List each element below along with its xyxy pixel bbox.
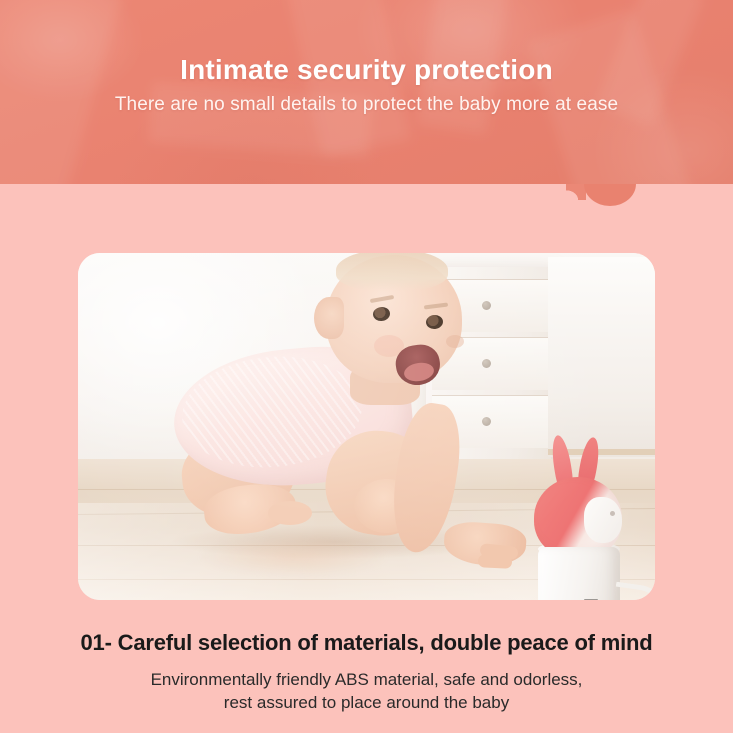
product-feature-page: Intimate security protection There are n… bbox=[0, 0, 733, 733]
banner-bottom-notch bbox=[584, 184, 636, 206]
feature-description-line-1: Environmentally friendly ABS material, s… bbox=[0, 668, 733, 691]
baby-ear bbox=[314, 297, 344, 339]
baby-nose bbox=[446, 335, 464, 348]
banner-title: Intimate security protection bbox=[0, 54, 733, 86]
device-face-panel bbox=[584, 497, 622, 543]
banner-notch-blend bbox=[566, 184, 586, 200]
baby-hair bbox=[336, 253, 448, 291]
feature-photo bbox=[78, 253, 655, 600]
photo-wall-panel bbox=[548, 257, 655, 457]
baby-toes bbox=[268, 501, 312, 525]
feature-description: Environmentally friendly ABS material, s… bbox=[0, 668, 733, 714]
feature-description-line-2: rest assured to place around the baby bbox=[0, 691, 733, 714]
banner-texture-fold bbox=[0, 0, 123, 184]
photo-rabbit-device bbox=[518, 435, 638, 593]
photo-baby bbox=[78, 253, 508, 600]
feature-heading: 01- Careful selection of materials, doub… bbox=[0, 630, 733, 656]
device-label bbox=[584, 599, 598, 600]
device-indicator-dot bbox=[610, 511, 615, 516]
device-charging-base bbox=[538, 547, 620, 600]
header-banner: Intimate security protection There are n… bbox=[0, 0, 733, 184]
banner-subtitle: There are no small details to protect th… bbox=[0, 94, 733, 116]
baby-finger bbox=[478, 554, 513, 569]
baby-floor-reflection bbox=[198, 537, 388, 577]
